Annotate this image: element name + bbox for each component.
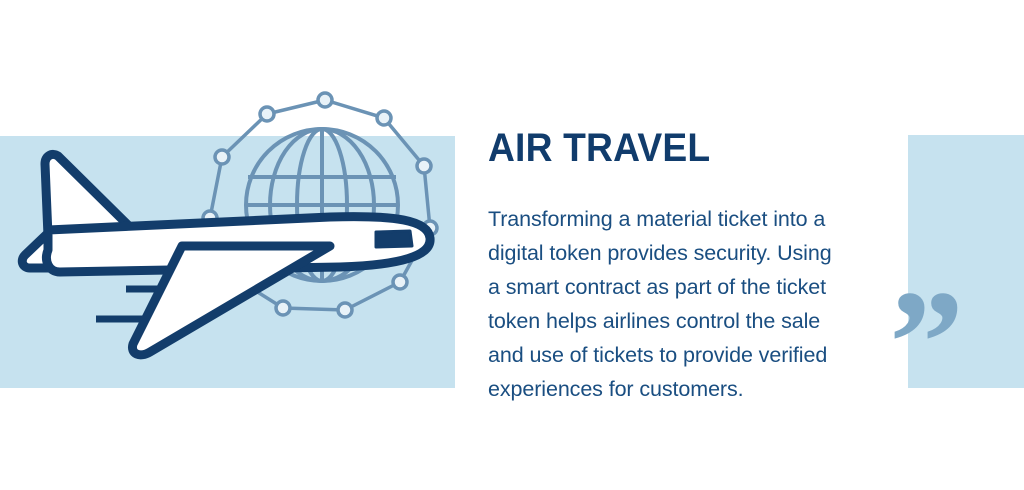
page-title: AIR TRAVEL [488, 128, 841, 168]
air-travel-illustration [0, 60, 470, 360]
text-content: AIR TRAVEL Transforming a material ticke… [488, 128, 868, 406]
body-paragraph: Transforming a material ticket into a di… [488, 168, 848, 406]
quote-mark-icon: ” [889, 268, 979, 368]
infographic-canvas: ” AIR TRAVEL Transforming a material tic… [0, 0, 1024, 490]
airplane-icon [22, 154, 430, 354]
